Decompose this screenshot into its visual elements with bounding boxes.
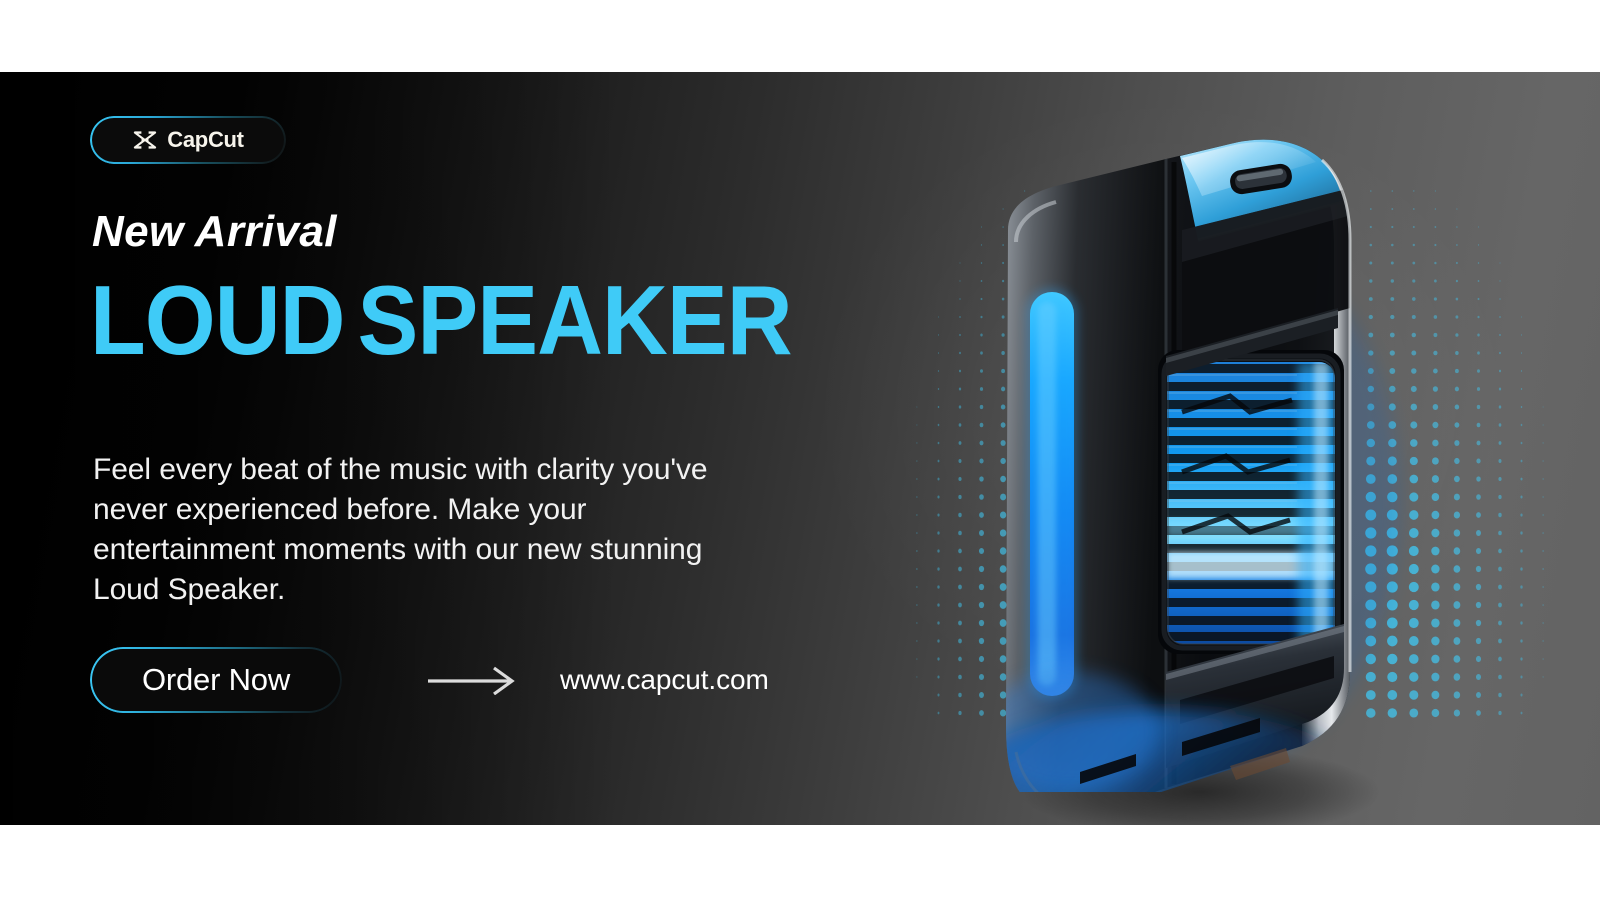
order-now-label: Order Now <box>142 662 290 698</box>
promo-banner: CapCut New Arrival LOUDSPEAKER Feel ever… <box>0 72 1600 825</box>
order-now-button[interactable]: Order Now <box>90 647 342 713</box>
body-description: Feel every beat of the music with clarit… <box>93 450 733 610</box>
arrow-right-icon <box>426 665 518 695</box>
content-column: CapCut New Arrival LOUDSPEAKER Feel ever… <box>90 72 790 825</box>
headline-word-loud: LOUD <box>90 265 344 375</box>
product-image-loudspeaker <box>930 112 1450 792</box>
eyebrow-new-arrival: New Arrival <box>92 210 337 254</box>
capcut-logo-badge[interactable]: CapCut <box>90 116 286 164</box>
banner-page: CapCut New Arrival LOUDSPEAKER Feel ever… <box>0 0 1600 900</box>
cta-row: Order Now www.capcut.com <box>90 647 769 713</box>
page-title: LOUDSPEAKER <box>90 276 792 364</box>
capcut-logo-text: CapCut <box>167 129 243 151</box>
website-url[interactable]: www.capcut.com <box>560 664 769 696</box>
capcut-bowtie-icon <box>132 129 158 151</box>
headline-word-speaker: SPEAKER <box>358 265 792 375</box>
